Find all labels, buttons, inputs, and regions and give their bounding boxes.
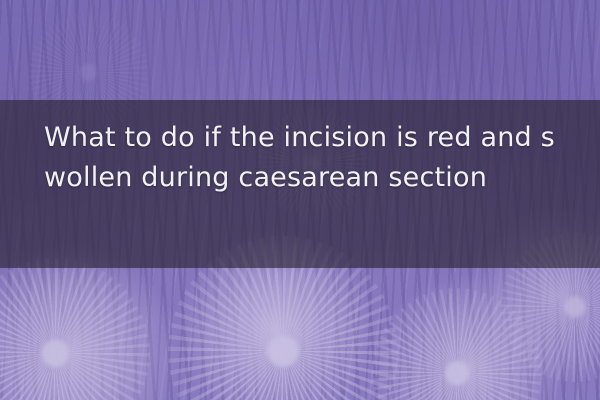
caption-overlay-band: What to do if the incision is red and sw…: [0, 100, 600, 268]
caption-title: What to do if the incision is red and sw…: [44, 118, 556, 198]
image-canvas: What to do if the incision is red and sw…: [0, 0, 600, 400]
